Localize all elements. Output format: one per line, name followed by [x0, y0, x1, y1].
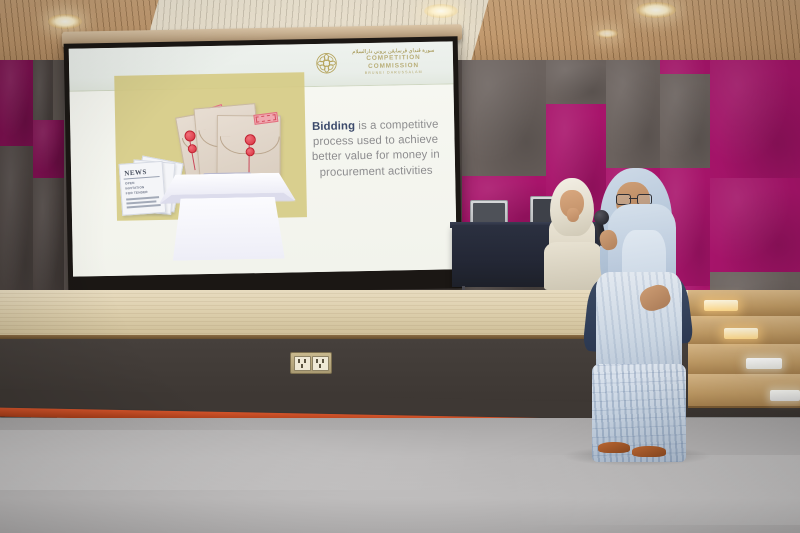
wall-panel	[462, 60, 548, 178]
newspaper-caption-line: FOR TENDER	[126, 190, 148, 196]
projected-slide: سورة ڤنداي ڤرسايڠن بروني دارالسلام COMPE…	[69, 41, 457, 276]
competition-commission-rosette-logo-icon	[315, 52, 338, 75]
slide-text-highlight: Bidding	[312, 120, 355, 133]
step-light-icon	[770, 390, 800, 401]
wall-panel	[0, 60, 34, 148]
ceiling-downlight-icon	[424, 4, 458, 18]
microphone-icon[interactable]	[594, 210, 609, 225]
envelope-seal-icon	[246, 147, 255, 156]
stage-steps[interactable]	[688, 290, 800, 415]
step-light-icon	[746, 358, 782, 369]
slide-body-text: Bidding is a competitive process used to…	[302, 117, 449, 181]
shoe	[598, 442, 630, 453]
wall-panel	[33, 120, 65, 180]
wall-panel	[606, 60, 662, 170]
wall-panel	[546, 60, 608, 106]
logo-country-name: BRUNEI DARUSSALAM	[342, 69, 445, 76]
torso-pattern	[596, 272, 682, 376]
auditorium-presentation-scene: سورة ڤنداي ڤرسايڠن بروني دارالسلام COMPE…	[0, 0, 800, 533]
ceiling-downlight-icon	[636, 2, 676, 18]
newspaper-front-page: NEWS OPEN INVITATION FOR TENDER	[119, 161, 167, 216]
shoe	[632, 446, 666, 457]
logo-wordmark: سورة ڤنداي ڤرسايڠن بروني دارالسلام COMPE…	[342, 47, 445, 76]
step-light-icon	[724, 328, 758, 339]
wall-panel	[660, 74, 712, 170]
step-light-icon	[704, 300, 738, 311]
ballot-box-body	[172, 197, 285, 261]
standing-presenter	[578, 168, 698, 458]
competition-commission-logo: سورة ڤنداي ڤرسايڠن بروني دارالسلام COMPE…	[315, 47, 446, 77]
envelope-stamp	[253, 112, 278, 125]
wall-panel	[710, 178, 800, 274]
wall-panel	[710, 60, 800, 180]
newspaper-caption-line: OPEN	[125, 181, 135, 186]
ceiling-downlight-icon	[48, 14, 82, 29]
projector-screen-frame: سورة ڤنداي ڤرسايڠن بروني دارالسلام COMPE…	[64, 36, 463, 296]
envelope-seal-icon	[245, 134, 256, 145]
floor-reflection	[380, 455, 800, 525]
ceiling-downlight-icon	[596, 29, 618, 38]
double-power-socket[interactable]	[290, 352, 332, 374]
newspaper-headline: NEWS	[124, 168, 147, 178]
stage-step	[688, 344, 800, 376]
ballot-box-illustration: NEWS OPEN INVITATION FOR TENDER	[108, 92, 321, 271]
glasses-icon	[616, 194, 650, 203]
